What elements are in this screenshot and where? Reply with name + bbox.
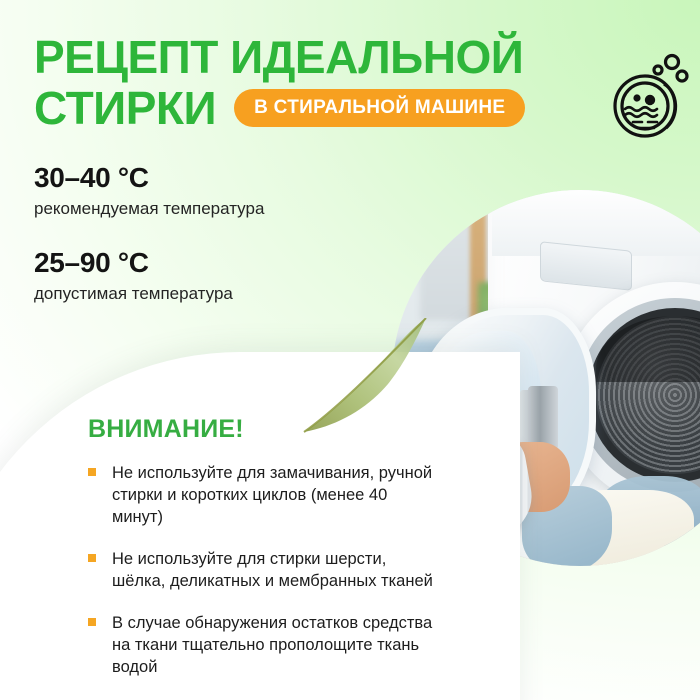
temperature-allowed: 25–90 °C допустимая температура bbox=[34, 247, 434, 306]
warning-list: Не используйте для замачивания, ручной с… bbox=[88, 462, 438, 678]
list-item: В случае обнаружения остатков средства н… bbox=[88, 612, 438, 678]
bullet-square-icon bbox=[88, 618, 96, 626]
washing-machine-drum-icon bbox=[608, 48, 694, 140]
photo-machine-knob bbox=[684, 196, 700, 222]
page-title-line-1: РЕЦЕПТ ИДЕАЛЬНОЙ bbox=[34, 34, 634, 81]
poster-canvas: РЕЦЕПТ ИДЕАЛЬНОЙ СТИРКИ В СТИРАЛЬНОЙ МАШ… bbox=[0, 0, 700, 700]
photo-door-latch bbox=[528, 386, 558, 450]
warning-section: ВНИМАНИЕ! Не используйте для замачивания… bbox=[88, 414, 438, 678]
list-item-text: Не используйте для стирки шерсти, шёлка,… bbox=[112, 550, 433, 590]
title-block: РЕЦЕПТ ИДЕАЛЬНОЙ СТИРКИ В СТИРАЛЬНОЙ МАШ… bbox=[34, 34, 634, 132]
photo-drum-shadow bbox=[596, 316, 700, 382]
header: РЕЦЕПТ ИДЕАЛЬНОЙ СТИРКИ В СТИРАЛЬНОЙ МАШ… bbox=[0, 0, 700, 150]
bullet-square-icon bbox=[88, 554, 96, 562]
title-row-secondary: СТИРКИ В СТИРАЛЬНОЙ МАШИНЕ bbox=[34, 81, 634, 132]
list-item-text: В случае обнаружения остатков средства н… bbox=[112, 614, 432, 676]
bullet-square-icon bbox=[88, 468, 96, 476]
page-title-line-2: СТИРКИ bbox=[34, 85, 216, 132]
temperature-label: допустимая температура bbox=[34, 282, 434, 306]
temperature-value: 30–40 °C bbox=[34, 162, 434, 194]
temperature-recommended: 30–40 °C рекомендуемая температура bbox=[34, 162, 434, 221]
temperature-label: рекомендуемая температура bbox=[34, 197, 434, 221]
list-item-text: Не используйте для замачивания, ручной с… bbox=[112, 464, 432, 526]
list-item: Не используйте для стирки шерсти, шёлка,… bbox=[88, 548, 438, 592]
photo-porthole-ring bbox=[578, 298, 700, 492]
warning-title: ВНИМАНИЕ! bbox=[88, 414, 438, 444]
temperature-block: 30–40 °C рекомендуемая температура 25–90… bbox=[34, 162, 434, 332]
list-item: Не используйте для замачивания, ручной с… bbox=[88, 462, 438, 528]
temperature-value: 25–90 °C bbox=[34, 247, 434, 279]
status-badge: В СТИРАЛЬНОЙ МАШИНЕ bbox=[234, 89, 525, 127]
photo-porthole-inner bbox=[588, 308, 700, 482]
photo-machine-drum bbox=[596, 316, 700, 474]
